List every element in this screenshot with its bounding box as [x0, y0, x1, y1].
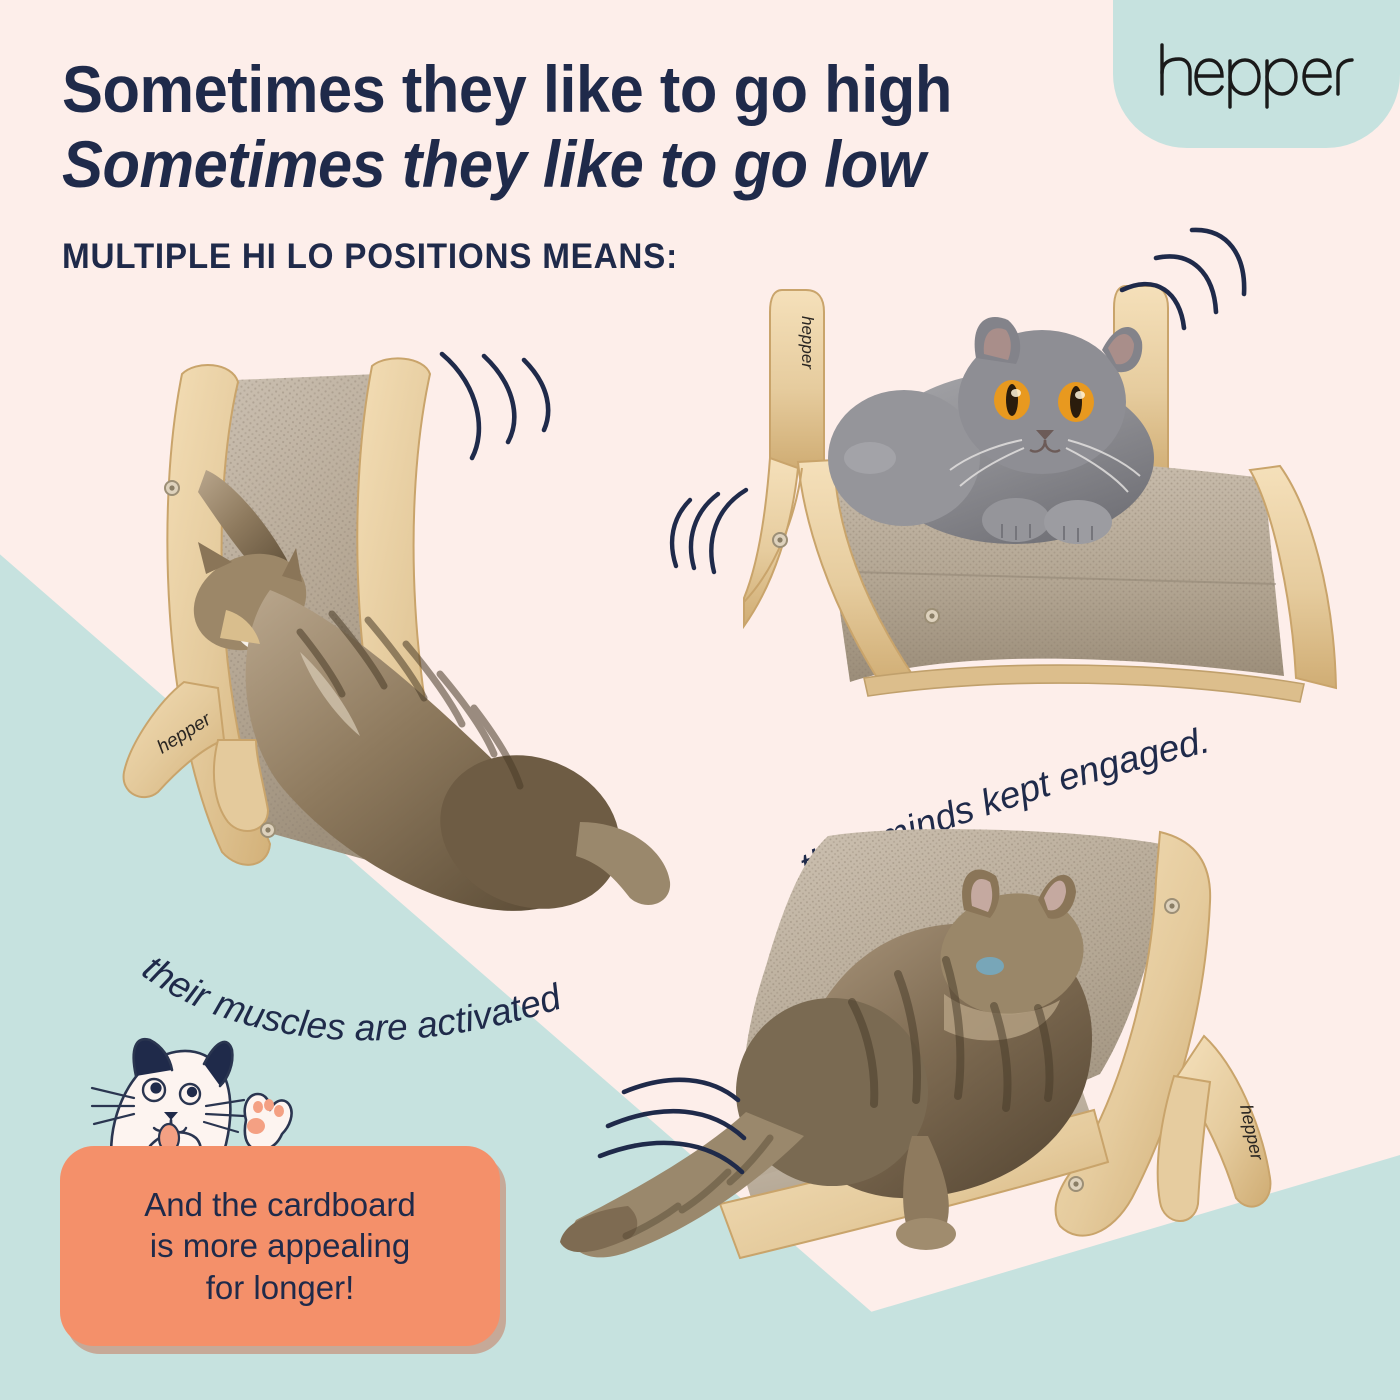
headline-line-1: Sometimes they like to go high [62, 52, 1020, 127]
callout-box[interactable]: And the cardboard is more appealing for … [60, 1146, 500, 1346]
motion-arcs-mid-left [652, 478, 762, 588]
motion-arcs-left-product [424, 338, 574, 468]
hepper-logo-badge[interactable] [1113, 0, 1400, 148]
subheading: MULTIPLE HI LO POSITIONS MEANS: [62, 237, 678, 277]
headline-block: Sometimes they like to go high Sometimes… [62, 52, 1092, 202]
callout-text: And the cardboard is more appealing for … [144, 1184, 416, 1309]
headline-line-2: Sometimes they like to go low [62, 127, 1020, 202]
hepper-logo-icon [1152, 39, 1362, 109]
motion-arcs-bottom-left [596, 1056, 756, 1186]
product-brand-mark: hepper [798, 316, 817, 370]
svg-text:hepper: hepper [798, 316, 817, 370]
cat-grey-shorthair [828, 317, 1154, 544]
product-scratcher-low-right[interactable]: hepper [744, 272, 1344, 732]
poster-canvas: Sometimes they like to go high Sometimes… [0, 0, 1400, 1400]
motion-arcs-top-right [1112, 212, 1262, 332]
